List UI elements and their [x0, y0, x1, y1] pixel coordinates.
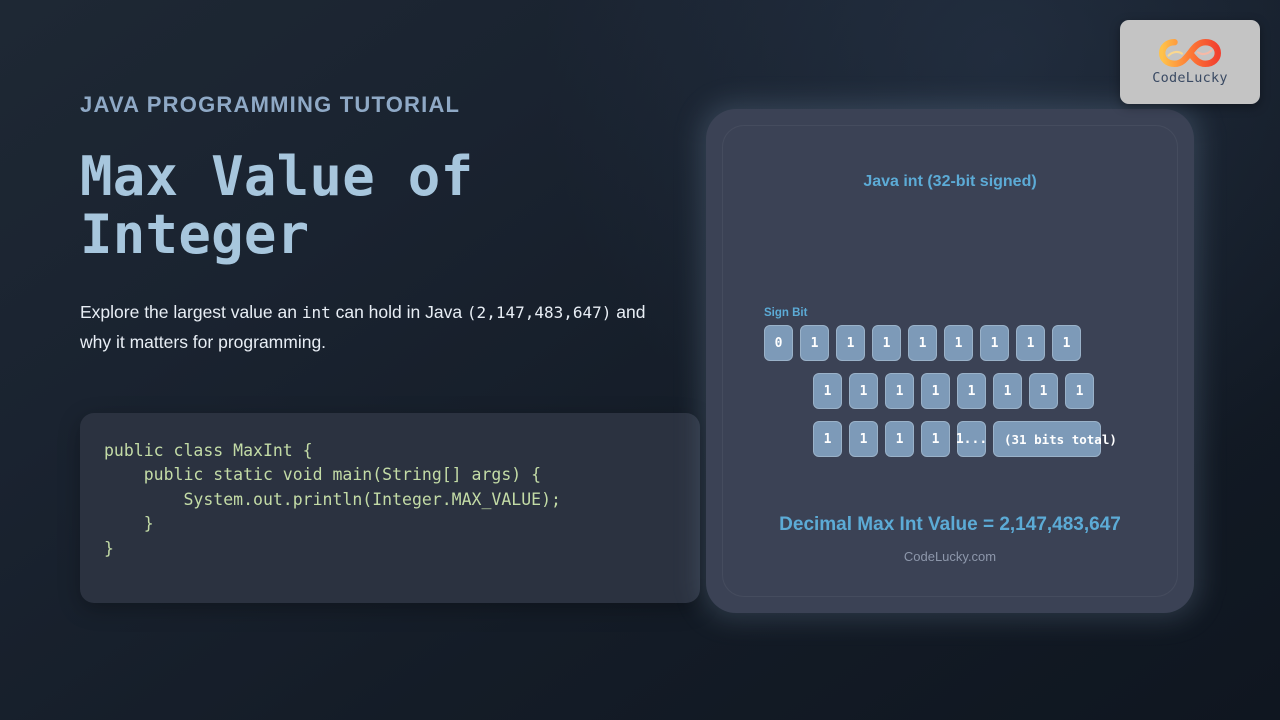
bit-cell: 1: [944, 325, 973, 361]
bit-row: 1 1 1 1 1 1 1 1: [813, 373, 1184, 409]
decimal-max-value: Decimal Max Int Value = 2,147,483,647: [706, 514, 1194, 536]
bit-cell-sign: 0: [764, 325, 793, 361]
diagram-title: Java int (32-bit signed): [706, 173, 1194, 191]
bit-cell: 1: [836, 325, 865, 361]
bit-total-label: (31 bits total): [993, 421, 1101, 457]
bit-cell: 1: [980, 325, 1009, 361]
code-block: public class MaxInt { public static void…: [80, 413, 700, 603]
bit-cell-ellipsis: 1...: [957, 421, 986, 457]
left-content: JAVA PROGRAMMING TUTORIAL Max Value of I…: [80, 92, 700, 357]
page-title: Max Value of Integer: [80, 148, 520, 262]
sign-bit-label: Sign Bit: [764, 307, 807, 319]
slide-root: JAVA PROGRAMMING TUTORIAL Max Value of I…: [0, 0, 1280, 720]
eyebrow-label: JAVA PROGRAMMING TUTORIAL: [80, 92, 700, 118]
bit-row: 0 1 1 1 1 1 1 1 1: [764, 325, 1184, 361]
bit-cell: 1: [885, 421, 914, 457]
bit-row: 1 1 1 1 1... (31 bits total): [813, 421, 1184, 457]
bit-cell: 1: [849, 421, 878, 457]
bit-cell: 1: [957, 373, 986, 409]
bit-cell: 1: [800, 325, 829, 361]
bit-cell: 1: [849, 373, 878, 409]
bit-cell: 1: [885, 373, 914, 409]
watermark-text: CodeLucky.com: [706, 549, 1194, 564]
bit-cell: 1: [872, 325, 901, 361]
bit-cell: 1: [993, 373, 1022, 409]
bit-cell: 1: [921, 373, 950, 409]
bit-cell: 1: [908, 325, 937, 361]
bit-rows: 0 1 1 1 1 1 1 1 1 1 1 1 1 1 1 1 1: [764, 325, 1184, 469]
subtitle-text: Explore the largest value an int can hol…: [80, 297, 680, 357]
logo-text: CodeLucky: [1152, 70, 1228, 86]
subtitle-mono-int: int: [302, 303, 331, 322]
subtitle-mono-value: (2,147,483,647): [467, 303, 612, 322]
bit-cell: 1: [813, 373, 842, 409]
bit-cell: 1: [1016, 325, 1045, 361]
infinity-loop-icon: [1159, 38, 1221, 68]
subtitle-part-2: can hold in Java: [331, 302, 467, 322]
bit-cell: 1: [1029, 373, 1058, 409]
bit-cell: 1: [921, 421, 950, 457]
logo-badge: CodeLucky: [1120, 20, 1260, 104]
subtitle-part-1: Explore the largest value an: [80, 302, 302, 322]
bit-diagram-panel: Java int (32-bit signed) Sign Bit 0 1 1 …: [706, 109, 1194, 613]
bit-cell: 1: [1052, 325, 1081, 361]
bit-cell: 1: [1065, 373, 1094, 409]
code-snippet: public class MaxInt { public static void…: [104, 439, 700, 561]
bit-cell: 1: [813, 421, 842, 457]
